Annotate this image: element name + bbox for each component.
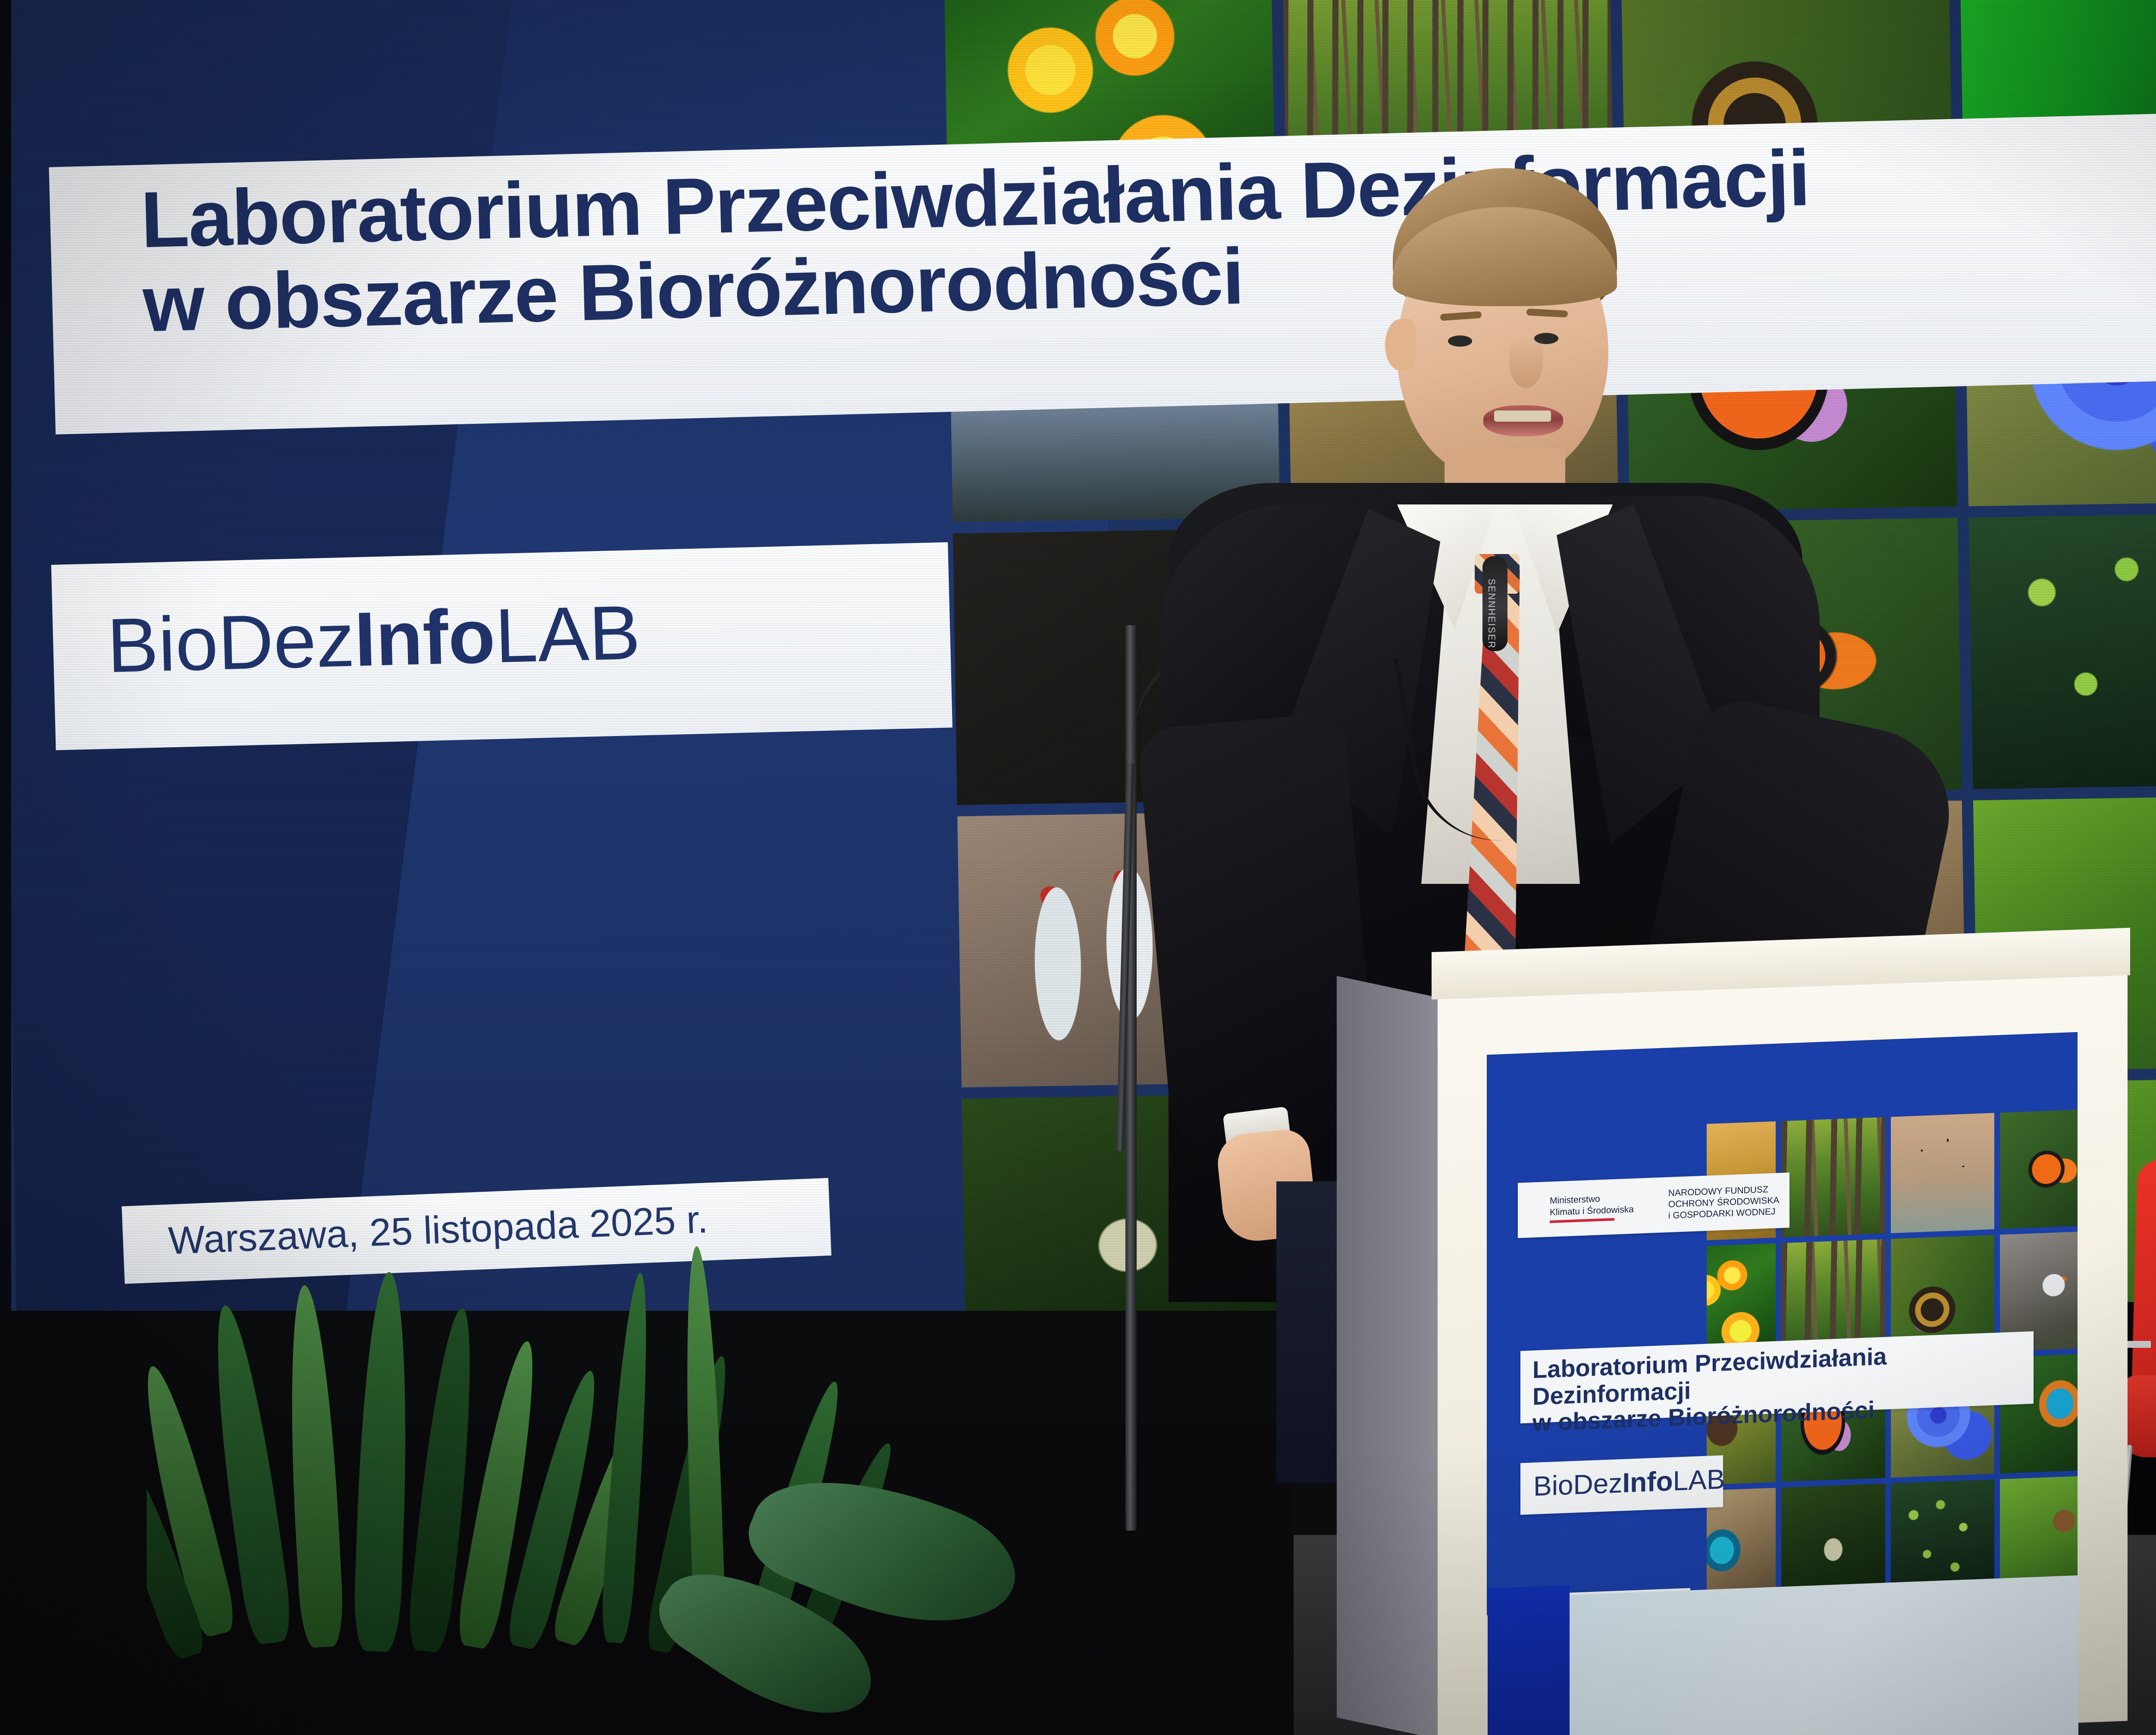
poster-brand-part-info: Info	[1622, 1466, 1673, 1499]
ministry-logo-text: Ministerstwo Klimatu i Środowiska	[1550, 1192, 1634, 1223]
speaker-teeth	[1494, 410, 1551, 422]
nfosigw-logo-text: NARODOWY FUNDUSZ OCHRONY ŚRODOWISKA i GO…	[1668, 1184, 1779, 1222]
brand-part-bio-dez: BioDez	[106, 596, 356, 688]
lectern-lower-panel	[1488, 1575, 2078, 1735]
poster-tile-flying-birds	[1891, 1113, 1994, 1233]
speaker-eye-left	[1448, 335, 1472, 347]
stage-plants	[147, 1220, 1268, 1735]
poster-brand-lockup: BioDezInfoLAB	[1533, 1463, 1725, 1502]
brand-part-info: Info	[354, 593, 496, 682]
brand-part-lab: LAB	[494, 589, 641, 679]
backdrop-brand-lockup: BioDezInfoLAB	[106, 588, 641, 690]
speaker-nose	[1509, 336, 1543, 388]
poster-logo-bar: Ministerstwo Klimatu i Środowiska NARODO…	[1518, 1172, 1789, 1238]
poster-title-plate: Laboratorium Przeciwdziałania Dezinforma…	[1520, 1331, 2034, 1424]
poster-brand-part-lab: LAB	[1673, 1463, 1725, 1497]
backdrop-brand-plate: BioDezInfoLAB	[51, 542, 953, 750]
lectern-side-panel	[1337, 976, 1445, 1735]
poster-brand-part-bio-dez: BioDez	[1533, 1467, 1622, 1502]
backdrop-left-edge	[0, 0, 11, 1380]
microphone-brand-label: SENNHEISER	[1486, 579, 1497, 649]
poster-tile-orange-butterfly	[2000, 1109, 2078, 1229]
photo-scene: Laboratorium Przeciwdziałania Dezinforma…	[0, 0, 2156, 1735]
lectern-poster: Ministerstwo Klimatu i Środowiska NARODO…	[1487, 1032, 2078, 1616]
speaker-ear	[1385, 319, 1416, 371]
poster-brand-plate: BioDezInfoLAB	[1520, 1455, 1723, 1515]
ministry-red-rule	[1550, 1218, 1614, 1223]
lectern: Ministerstwo Klimatu i Środowiska NARODO…	[1423, 940, 2139, 1735]
lectern-blue-stripe	[1488, 1585, 1570, 1735]
poster-tile-spruce-forest	[1781, 1117, 1885, 1237]
photo-tile-pond	[1968, 513, 2156, 789]
